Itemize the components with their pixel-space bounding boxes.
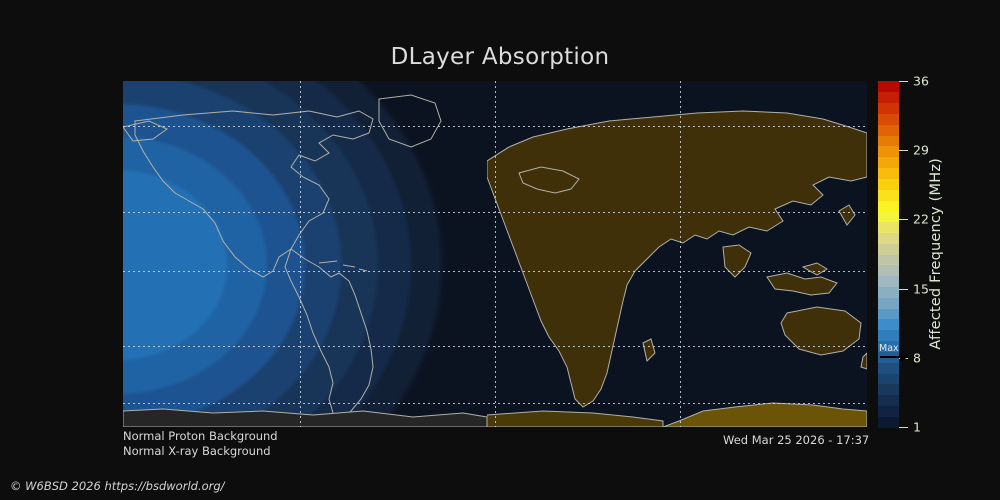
colorbar-segment xyxy=(878,157,899,168)
max-marker: Max xyxy=(879,344,909,366)
colorbar-segment xyxy=(878,276,899,287)
colorbar-segment xyxy=(878,265,899,276)
max-marker-arrow-head xyxy=(900,352,908,362)
colorbar-segment xyxy=(878,211,899,222)
colorbar-segment xyxy=(878,286,899,297)
colorbar-segment xyxy=(878,92,899,103)
colorbar-tick-label: 1 xyxy=(913,420,921,435)
colorbar-tick xyxy=(899,219,908,220)
colorbar-segment xyxy=(878,113,899,124)
colorbar-segment xyxy=(878,395,899,406)
colorbar-segment xyxy=(878,81,899,92)
colorbar-segment xyxy=(878,146,899,157)
page-title: DLayer Absorption xyxy=(0,44,1000,70)
colorbar-segment xyxy=(878,135,899,146)
copyright: © W6BSD 2026 https://bsdworld.org/ xyxy=(10,479,225,493)
colorbar-segment xyxy=(878,168,899,179)
colorbar-segment xyxy=(878,222,899,233)
colorbar[interactable] xyxy=(878,81,899,427)
status-proton: Normal Proton Background xyxy=(123,429,278,444)
colorbar-tick xyxy=(899,289,908,290)
colorbar-segment xyxy=(878,373,899,384)
world-map[interactable] xyxy=(123,81,867,427)
colorbar-tick xyxy=(899,427,908,428)
app-root: DLayer Absorption xyxy=(0,0,1000,500)
colorbar-segment xyxy=(878,243,899,254)
colorbar-tick xyxy=(899,81,908,82)
max-marker-label: Max xyxy=(879,344,899,354)
colorbar-segment xyxy=(878,330,899,341)
colorbar-segment xyxy=(878,384,899,395)
max-marker-arrow-line xyxy=(880,356,902,358)
colorbar-segment xyxy=(878,103,899,114)
status-block: Normal Proton Background Normal X-ray Ba… xyxy=(123,429,278,458)
colorbar-segment xyxy=(878,297,899,308)
colorbar-axis-label: Affected Frequency (MHz) xyxy=(921,81,951,427)
colorbar-segment xyxy=(878,189,899,200)
colorbar-segment xyxy=(878,178,899,189)
colorbar-segment xyxy=(878,200,899,211)
colorbar-segment xyxy=(878,405,899,416)
colorbar-segment xyxy=(878,232,899,243)
colorbar-tick xyxy=(899,150,908,151)
colorbar-tick-label: 8 xyxy=(913,350,921,365)
colorbar-segment xyxy=(878,124,899,135)
map-canvas xyxy=(123,81,867,427)
timestamp: Wed Mar 25 2026 - 17:37 xyxy=(723,433,869,447)
colorbar-axis-label-text: Affected Frequency (MHz) xyxy=(928,158,944,350)
colorbar-gradient xyxy=(878,81,899,427)
colorbar-segment xyxy=(878,308,899,319)
colorbar-segment xyxy=(878,416,899,427)
colorbar-segment xyxy=(878,319,899,330)
status-xray: Normal X-ray Background xyxy=(123,444,278,459)
colorbar-segment xyxy=(878,254,899,265)
